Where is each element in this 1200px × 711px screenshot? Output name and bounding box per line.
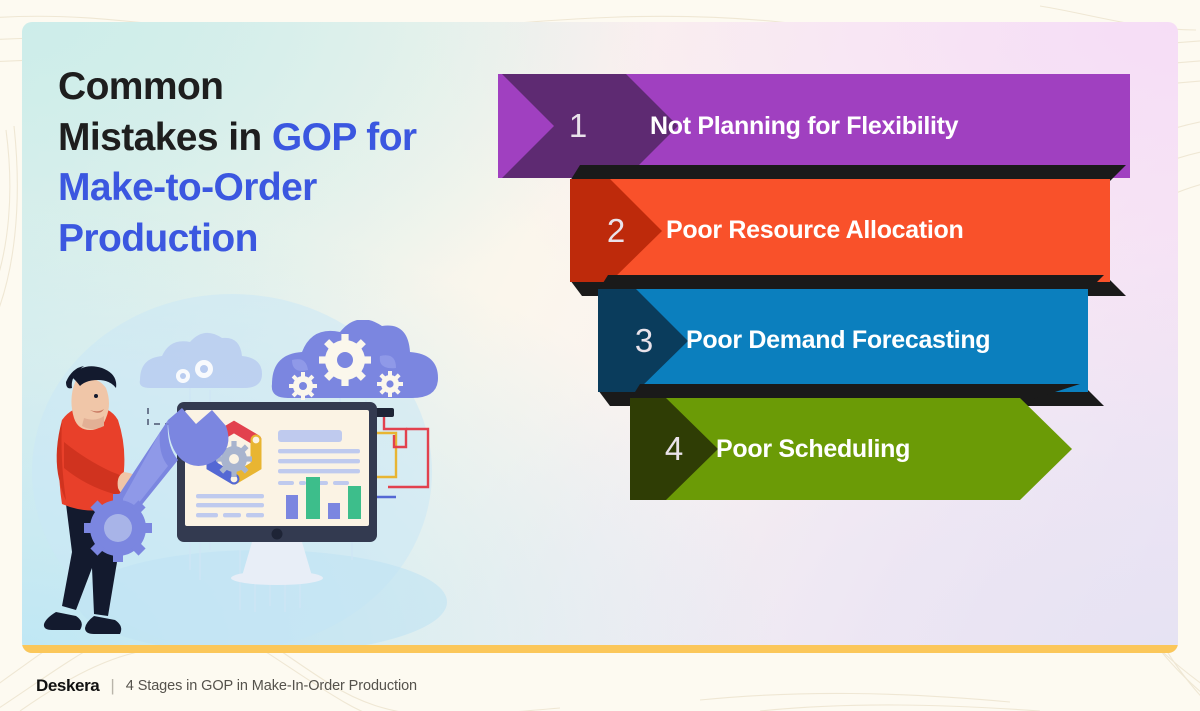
outer-frame: Common Mistakes in GOP for Make-to-Order… [0, 0, 1200, 711]
title-line-1: Common [58, 65, 223, 108]
banner-2-label: Poor Resource Allocation [666, 179, 964, 282]
banner-4-number: 4 [650, 398, 698, 500]
banner-4-label: Poor Scheduling [716, 398, 910, 500]
footer: Deskera | 4 Stages in GOP in Make-In-Ord… [36, 676, 417, 696]
banner-1-number: 1 [554, 74, 602, 178]
footer-separator: | [110, 676, 114, 696]
title-line-4: Production [58, 217, 258, 260]
mistake-banner-1[interactable]: 1 Not Planning for Flexibility [498, 74, 1130, 178]
banner-3-number: 3 [620, 289, 668, 392]
page-title: Common Mistakes in GOP for Make-to-Order… [58, 62, 488, 265]
footer-caption: 4 Stages in GOP in Make-In-Order Product… [126, 678, 417, 694]
mistake-banner-2[interactable]: 2 Poor Resource Allocation [570, 179, 1110, 282]
title-line-3: Make-to-Order [58, 166, 317, 209]
brand-logo: Deskera [36, 676, 99, 696]
banner-1-label: Not Planning for Flexibility [650, 74, 958, 178]
mistake-banner-4[interactable]: 4 Poor Scheduling [630, 398, 1072, 500]
title-line-2-plain: Mistakes in [58, 116, 272, 159]
mistake-banner-3[interactable]: 3 Poor Demand Forecasting [598, 289, 1088, 392]
illustration-person-with-wrench [40, 320, 460, 650]
title-line-2-accent: GOP for [272, 116, 417, 159]
banner-3-label: Poor Demand Forecasting [686, 289, 990, 392]
banner-2-number: 2 [592, 179, 640, 282]
